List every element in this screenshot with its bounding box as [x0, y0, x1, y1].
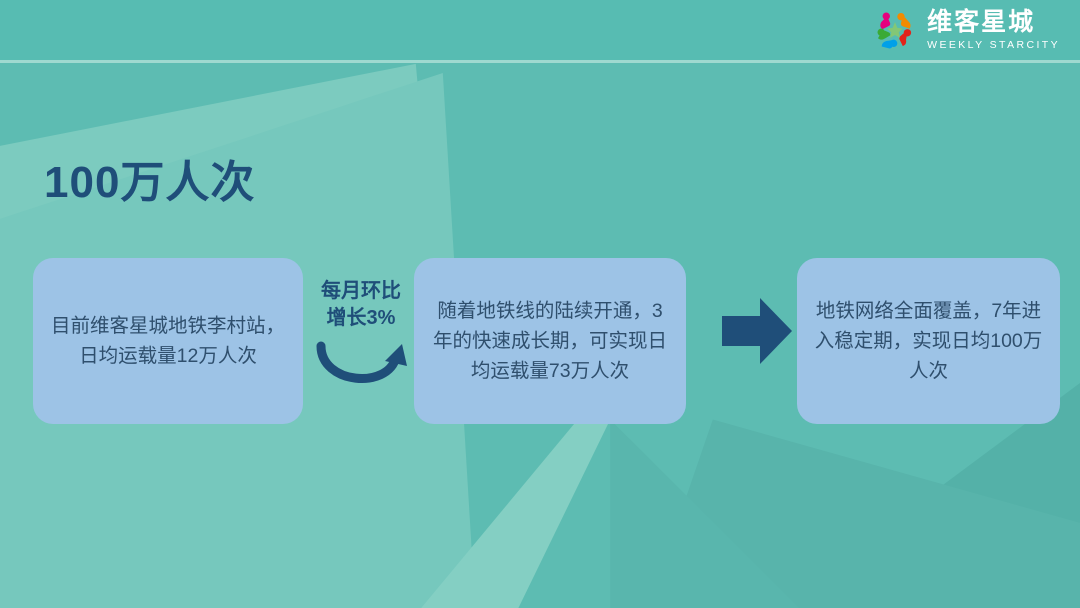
people-circle-logo-icon: [872, 7, 918, 53]
growth-label-line2: 增长3%: [312, 305, 410, 332]
flow-diagram: 目前维客星城地铁李村站，日均运载量12万人次 随着地铁线的陆续开通，3年的快速成…: [0, 258, 1080, 424]
flow-card-growth: 随着地铁线的陆续开通，3年的快速成长期，可实现日均运载量73万人次: [414, 258, 686, 424]
logo-text-block: 维客星城 WEEKLY STARCITY: [927, 10, 1060, 51]
logo-name-en: WEEKLY STARCITY: [927, 40, 1060, 51]
flow-card-current: 目前维客星城地铁李村站，日均运载量12万人次: [33, 258, 303, 424]
header-divider: [0, 60, 1080, 63]
logo-name-cn: 维客星城: [927, 10, 1060, 35]
flow-card-growth-text: 随着地铁线的陆续开通，3年的快速成长期，可实现日均运载量73万人次: [430, 296, 670, 387]
slide-canvas: 一、青岛地铁的现状与未来: [0, 0, 1080, 608]
growth-annotation: 每月环比 增长3%: [312, 278, 410, 396]
curved-up-arrow-icon: [312, 338, 410, 396]
flow-card-stable: 地铁网络全面覆盖，7年进入稳定期，实现日均100万人次: [797, 258, 1060, 424]
headline-metric: 100万人次: [44, 146, 255, 210]
brand-logo: 维客星城 WEEKLY STARCITY: [872, 7, 1060, 53]
growth-label-line1: 每月环比: [312, 278, 410, 305]
flow-card-current-text: 目前维客星城地铁李村站，日均运载量12万人次: [49, 311, 287, 371]
flow-card-stable-text: 地铁网络全面覆盖，7年进入稳定期，实现日均100万人次: [813, 296, 1044, 387]
right-block-arrow-icon: [722, 298, 792, 364]
